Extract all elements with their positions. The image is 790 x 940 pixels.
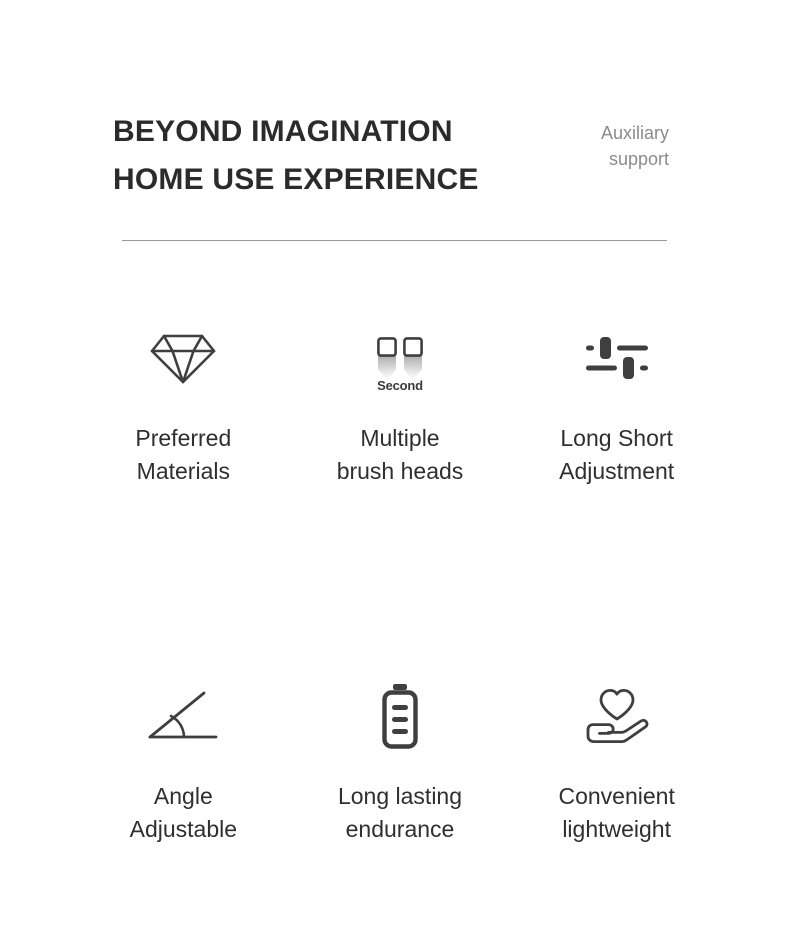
feature-item-angle-adjustable: Angle Adjustable — [75, 678, 292, 846]
feature-item-multiple-brush-heads: Second Multiple brush heads — [292, 320, 509, 488]
feature-label-line-2: Adjustment — [559, 455, 674, 488]
feature-label: Long lasting endurance — [338, 780, 462, 846]
feature-label-line-1: Angle — [130, 780, 237, 813]
page-title: BEYOND IMAGINATION HOME USE EXPERIENCE — [113, 108, 479, 204]
heading-block: BEYOND IMAGINATION HOME USE EXPERIENCE A… — [113, 108, 673, 204]
battery-icon — [378, 683, 422, 754]
feature-label: Multiple brush heads — [337, 422, 464, 488]
feature-icon-slot — [150, 320, 216, 400]
feature-icon-slot — [378, 678, 422, 758]
page-header: BEYOND IMAGINATION HOME USE EXPERIENCE A… — [113, 108, 673, 204]
header-divider — [122, 240, 667, 241]
brush-heads-icon: Second — [369, 329, 431, 391]
feature-label-line-1: Multiple — [337, 422, 464, 455]
feature-label-line-2: Adjustable — [130, 813, 237, 846]
feature-label: Convenient lightweight — [558, 780, 674, 846]
feature-label: Angle Adjustable — [130, 780, 237, 846]
feature-item-convenient-lightweight: Convenient lightweight — [508, 678, 725, 846]
feature-label-line-1: Convenient — [558, 780, 674, 813]
feature-item-long-lasting-endurance: Long lasting endurance — [292, 678, 509, 846]
feature-icon-slot — [146, 678, 220, 758]
page-title-line-2: HOME USE EXPERIENCE — [113, 156, 479, 204]
page-title-line-1: BEYOND IMAGINATION — [113, 108, 479, 156]
hand-heart-icon — [580, 685, 654, 752]
feature-label: Preferred Materials — [135, 422, 231, 488]
auxiliary-support-note: Auxiliary support — [601, 108, 673, 172]
feature-icon-slot — [585, 320, 649, 400]
feature-label-line-2: Materials — [135, 455, 231, 488]
auxiliary-support-line-1: Auxiliary — [601, 120, 669, 146]
feature-item-preferred-materials: Preferred Materials — [75, 320, 292, 488]
auxiliary-support-line-2: support — [601, 146, 669, 172]
feature-grid: Preferred Materials — [75, 320, 725, 846]
angle-icon — [146, 690, 220, 747]
brush-heads-icon-caption: Second — [369, 378, 431, 393]
feature-icon-slot — [580, 678, 654, 758]
feature-label-line-1: Preferred — [135, 422, 231, 455]
promo-feature-page: BEYOND IMAGINATION HOME USE EXPERIENCE A… — [0, 0, 790, 940]
feature-item-long-short-adjustment: Long Short Adjustment — [508, 320, 725, 488]
feature-label-line-1: Long lasting — [338, 780, 462, 813]
feature-label-line-2: lightweight — [558, 813, 674, 846]
diamond-icon — [150, 330, 216, 391]
feature-icon-slot: Second — [369, 320, 431, 400]
feature-label-line-1: Long Short — [559, 422, 674, 455]
feature-label-line-2: brush heads — [337, 455, 464, 488]
feature-label: Long Short Adjustment — [559, 422, 674, 488]
sliders-icon — [585, 335, 649, 386]
feature-label-line-2: endurance — [338, 813, 462, 846]
